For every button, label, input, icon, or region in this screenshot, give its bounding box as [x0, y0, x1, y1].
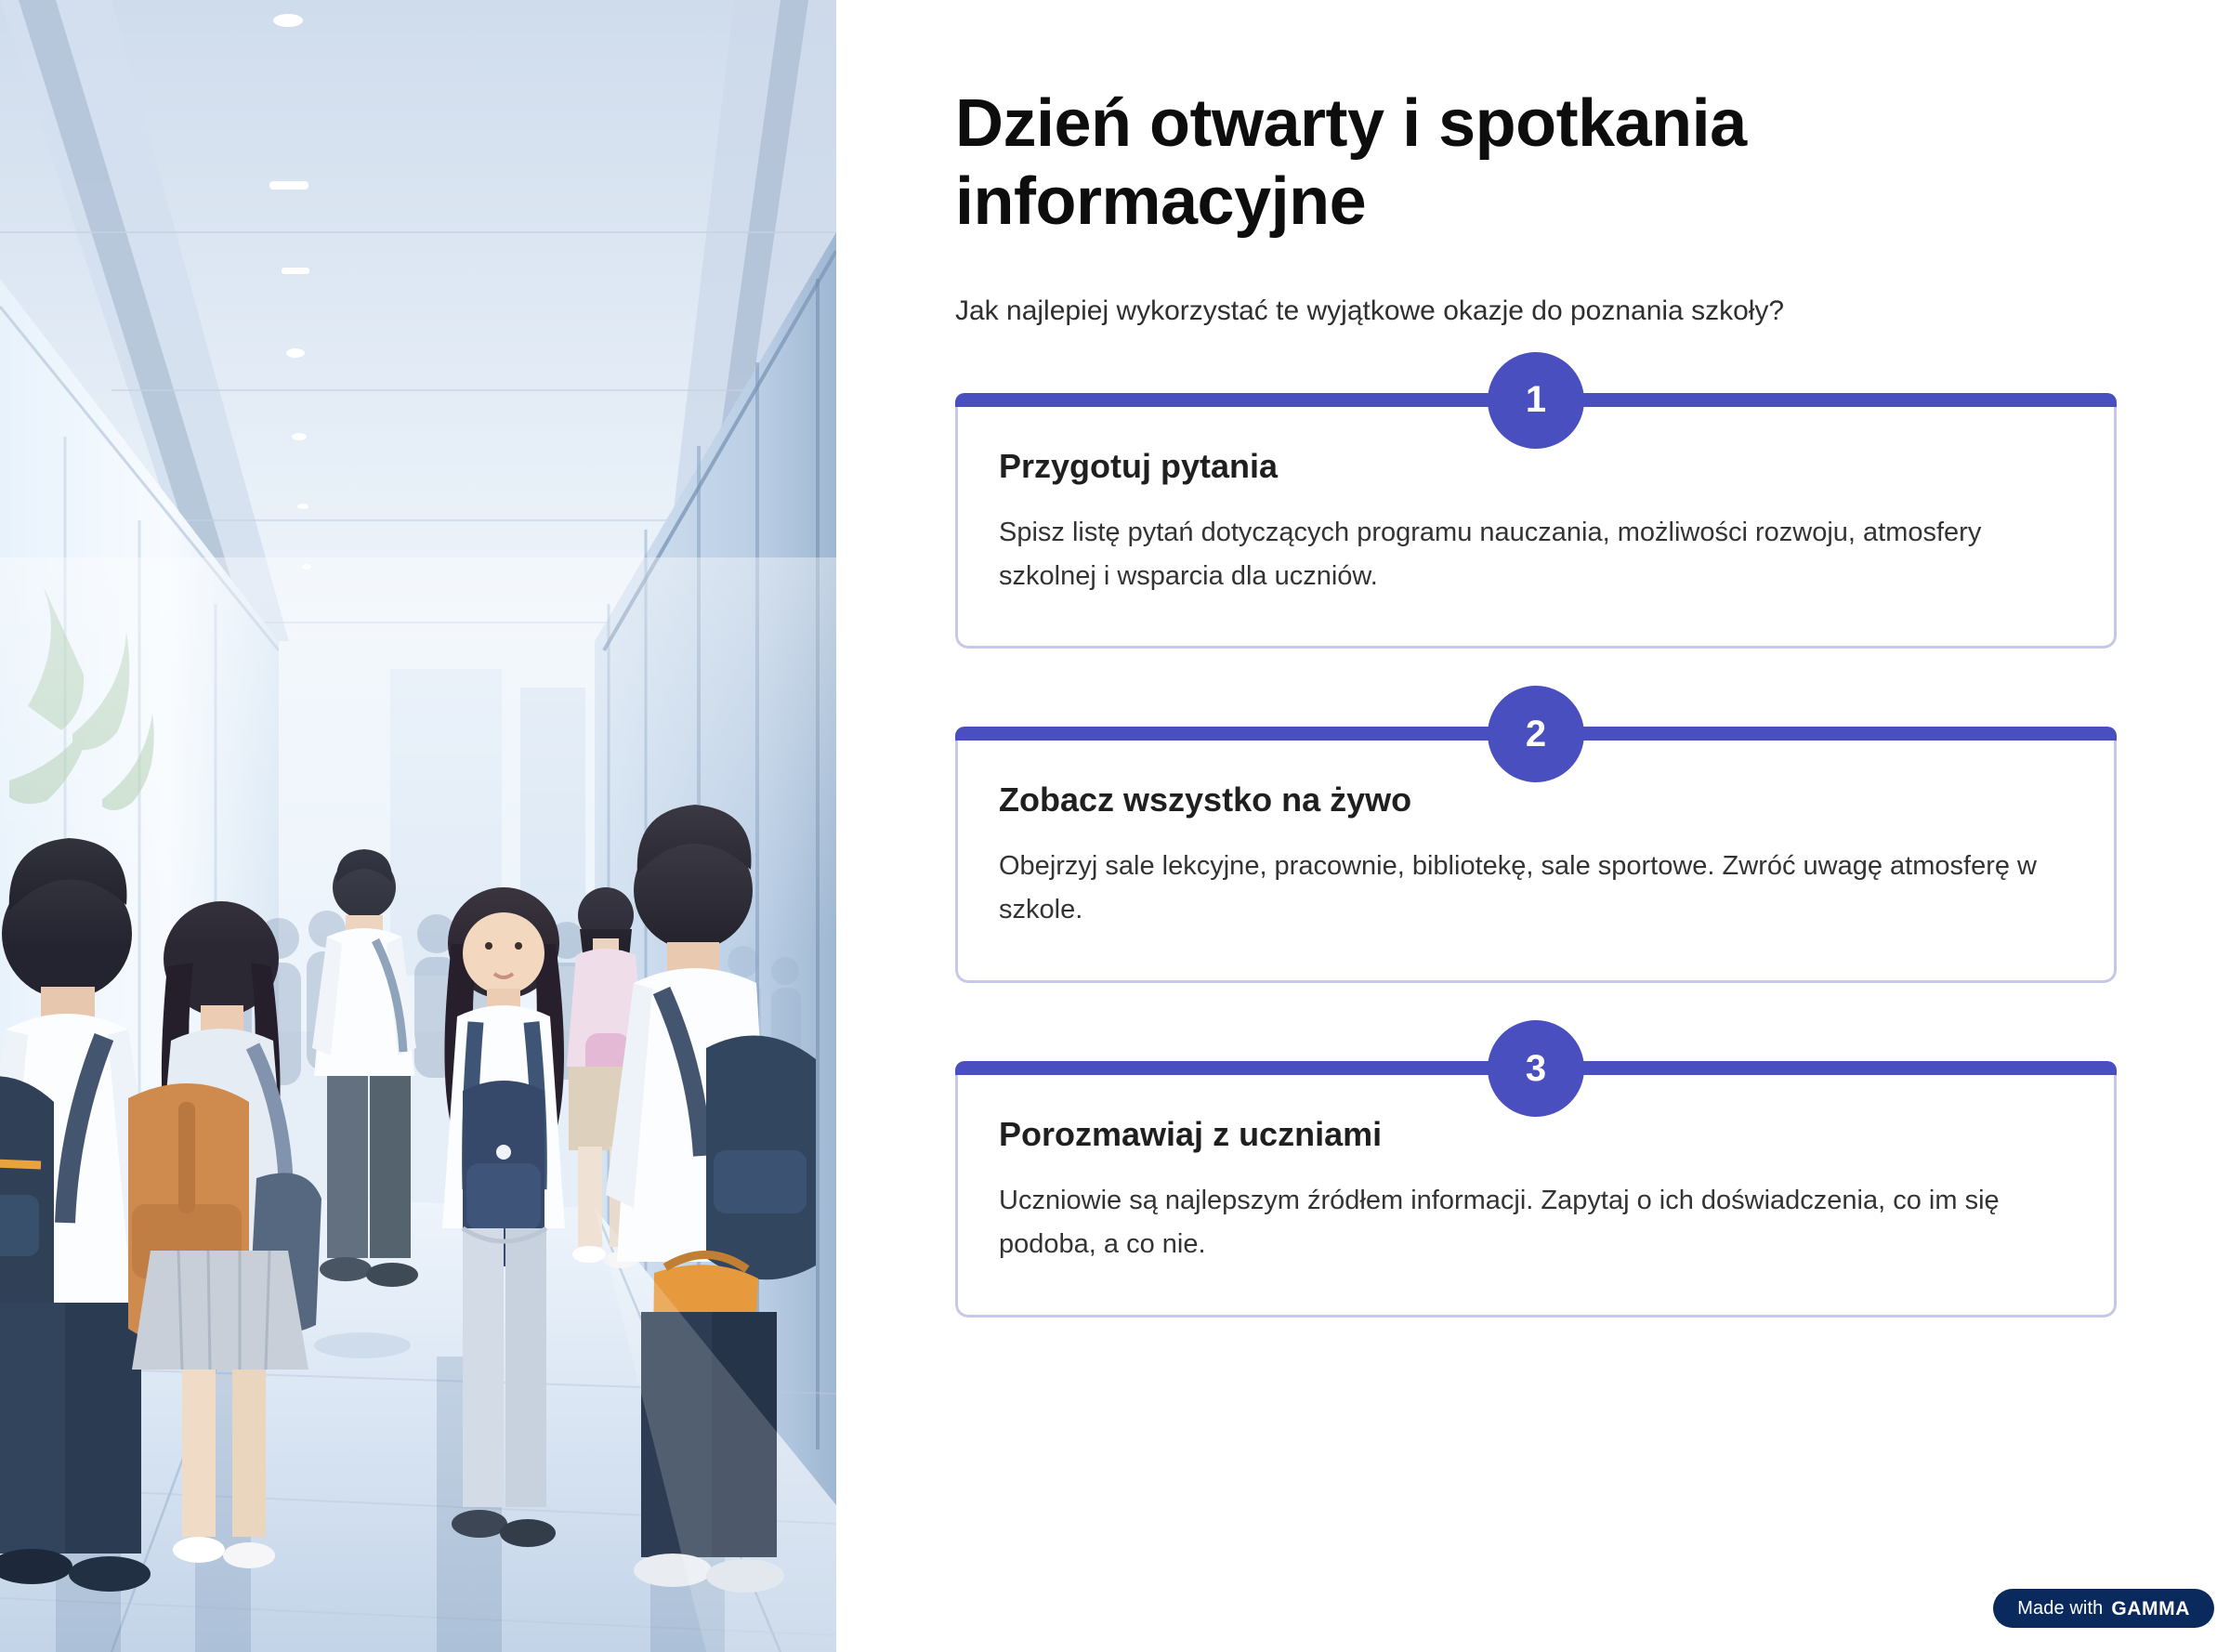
step-item-2: 2 Zobacz wszystko na żywo Obejrzyj sale …	[955, 727, 2117, 983]
step-text-3: Uczniowie są najlepszym źródłem informac…	[999, 1155, 2049, 1266]
made-with-gamma-badge[interactable]: Made with GAMMA	[1993, 1589, 2214, 1628]
step-number-badge-2: 2	[1488, 686, 1584, 782]
content-panel: Dzień otwarty i spotkania informacyjne J…	[836, 0, 2230, 1652]
step-text-1: Spisz listę pytań dotyczących programu n…	[999, 487, 2049, 598]
slide-root: Dzień otwarty i spotkania informacyjne J…	[0, 0, 2230, 1652]
page-subtitle: Jak najlepiej wykorzystać te wyjątkowe o…	[955, 241, 2117, 332]
step-text-2: Obejrzyj sale lekcyjne, pracownie, bibli…	[999, 820, 2049, 932]
step-heading-2: Zobacz wszystko na żywo	[999, 779, 2073, 820]
step-item-1: 1 Przygotuj pytania Spisz listę pytań do…	[955, 393, 2117, 649]
step-heading-3: Porozmawiaj z uczniami	[999, 1113, 2073, 1155]
corridor-illustration	[0, 0, 836, 1652]
step-number-badge-3: 3	[1488, 1020, 1584, 1117]
page-title: Dzień otwarty i spotkania informacyjne	[955, 0, 1996, 241]
step-item-3: 3 Porozmawiaj z uczniami Uczniowie są na…	[955, 1061, 2117, 1318]
step-number-badge-1: 1	[1488, 352, 1584, 449]
step-heading-1: Przygotuj pytania	[999, 445, 2073, 487]
school-corridor-students-photo	[0, 0, 836, 1652]
steps-list: 1 Przygotuj pytania Spisz listę pytań do…	[955, 393, 2117, 1318]
gamma-wordmark: GAMMA	[2111, 1599, 2190, 1619]
made-with-label: Made with	[2017, 1599, 2103, 1618]
